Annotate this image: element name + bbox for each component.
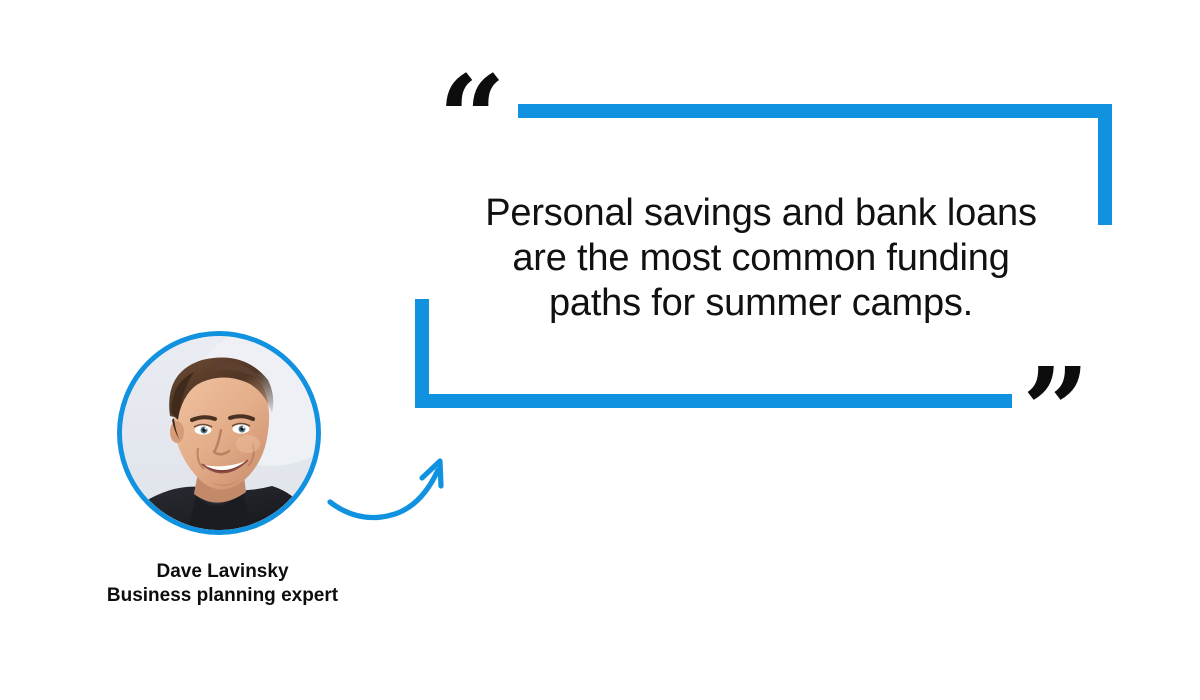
author-name: Dave Lavinsky [60,560,385,584]
frame-top-bar [518,104,1112,118]
frame-left-vertical-bar [415,299,429,408]
frame-right-vertical-bar [1098,104,1112,225]
close-quote-icon: ” [1022,352,1090,470]
quote-text: Personal savings and bank loans are the … [452,191,1070,326]
quote-card: “ Personal savings and bank loans are th… [0,0,1200,700]
author-role: Business planning expert [60,584,385,608]
avatar-photo [122,336,316,530]
attribution: Dave Lavinsky Business planning expert [60,560,385,608]
frame-bottom-bar [415,394,1012,408]
curved-arrow-icon [310,440,470,530]
avatar [117,331,321,535]
open-quote-icon: “ [438,60,506,178]
quote-line-2: are the most common funding [452,236,1070,281]
quote-line-1: Personal savings and bank loans [452,191,1070,236]
quote-line-3: paths for summer camps. [452,281,1070,326]
